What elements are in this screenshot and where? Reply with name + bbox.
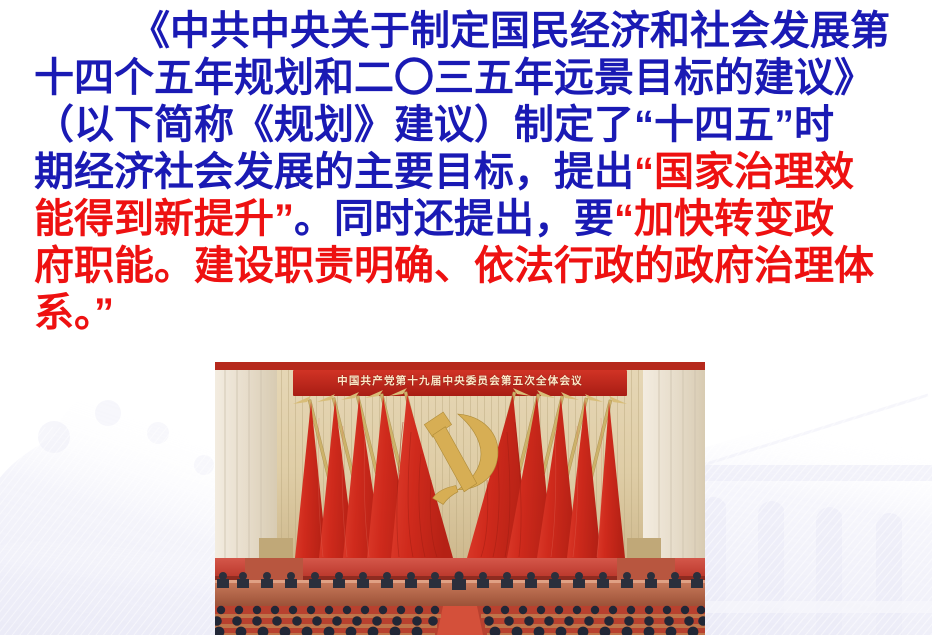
- text-segment: 十四个五年规划和二〇三五年远景目标的建议》: [34, 56, 874, 100]
- text-line-3: （以下简称《规划》建议）制定了“十四五”时: [34, 102, 900, 149]
- text-segment-highlight: “国家治理效: [634, 150, 854, 194]
- text-segment: 期经济社会发展的主要目标，提出: [34, 150, 634, 194]
- fifth-plenary-session-photo: 中国共产党第十九届中央委员会第五次全体会议: [215, 362, 705, 635]
- slide-canvas: 《中共中央关于制定国民经济和社会发展第 十四个五年规划和二〇三五年远景目标的建议…: [0, 0, 932, 635]
- text-segment-highlight: 能得到新提升”: [34, 197, 294, 241]
- text-segment-highlight: 府职能。建设职责明确、依法行政的政府治理体: [34, 244, 874, 288]
- text-line-1: 《中共中央关于制定国民经济和社会发展第: [34, 8, 900, 55]
- presidium-row: [217, 571, 703, 590]
- text-segment-highlight: 系。”: [34, 291, 114, 335]
- text-segment: 。同时还提出，要: [294, 197, 614, 241]
- text-line-2: 十四个五年规划和二〇三五年远景目标的建议》: [34, 55, 900, 102]
- text-segment: 《中共中央关于制定国民经济和社会发展第: [130, 9, 890, 53]
- slide-body-text: 《中共中央关于制定国民经济和社会发展第 十四个五年规划和二〇三五年远景目标的建议…: [34, 8, 900, 337]
- text-segment: （以下简称《规划》建议）制定了“十四五”时: [34, 103, 834, 147]
- meeting-banner: [293, 370, 627, 396]
- text-line-7: 系。”: [34, 290, 900, 337]
- text-line-4: 期经济社会发展的主要目标，提出“国家治理效: [34, 149, 900, 196]
- text-segment-highlight: “加快转变政: [614, 197, 834, 241]
- text-line-5: 能得到新提升”。同时还提出，要“加快转变政: [34, 196, 900, 243]
- text-line-6: 府职能。建设职责明确、依法行政的政府治理体: [34, 243, 900, 290]
